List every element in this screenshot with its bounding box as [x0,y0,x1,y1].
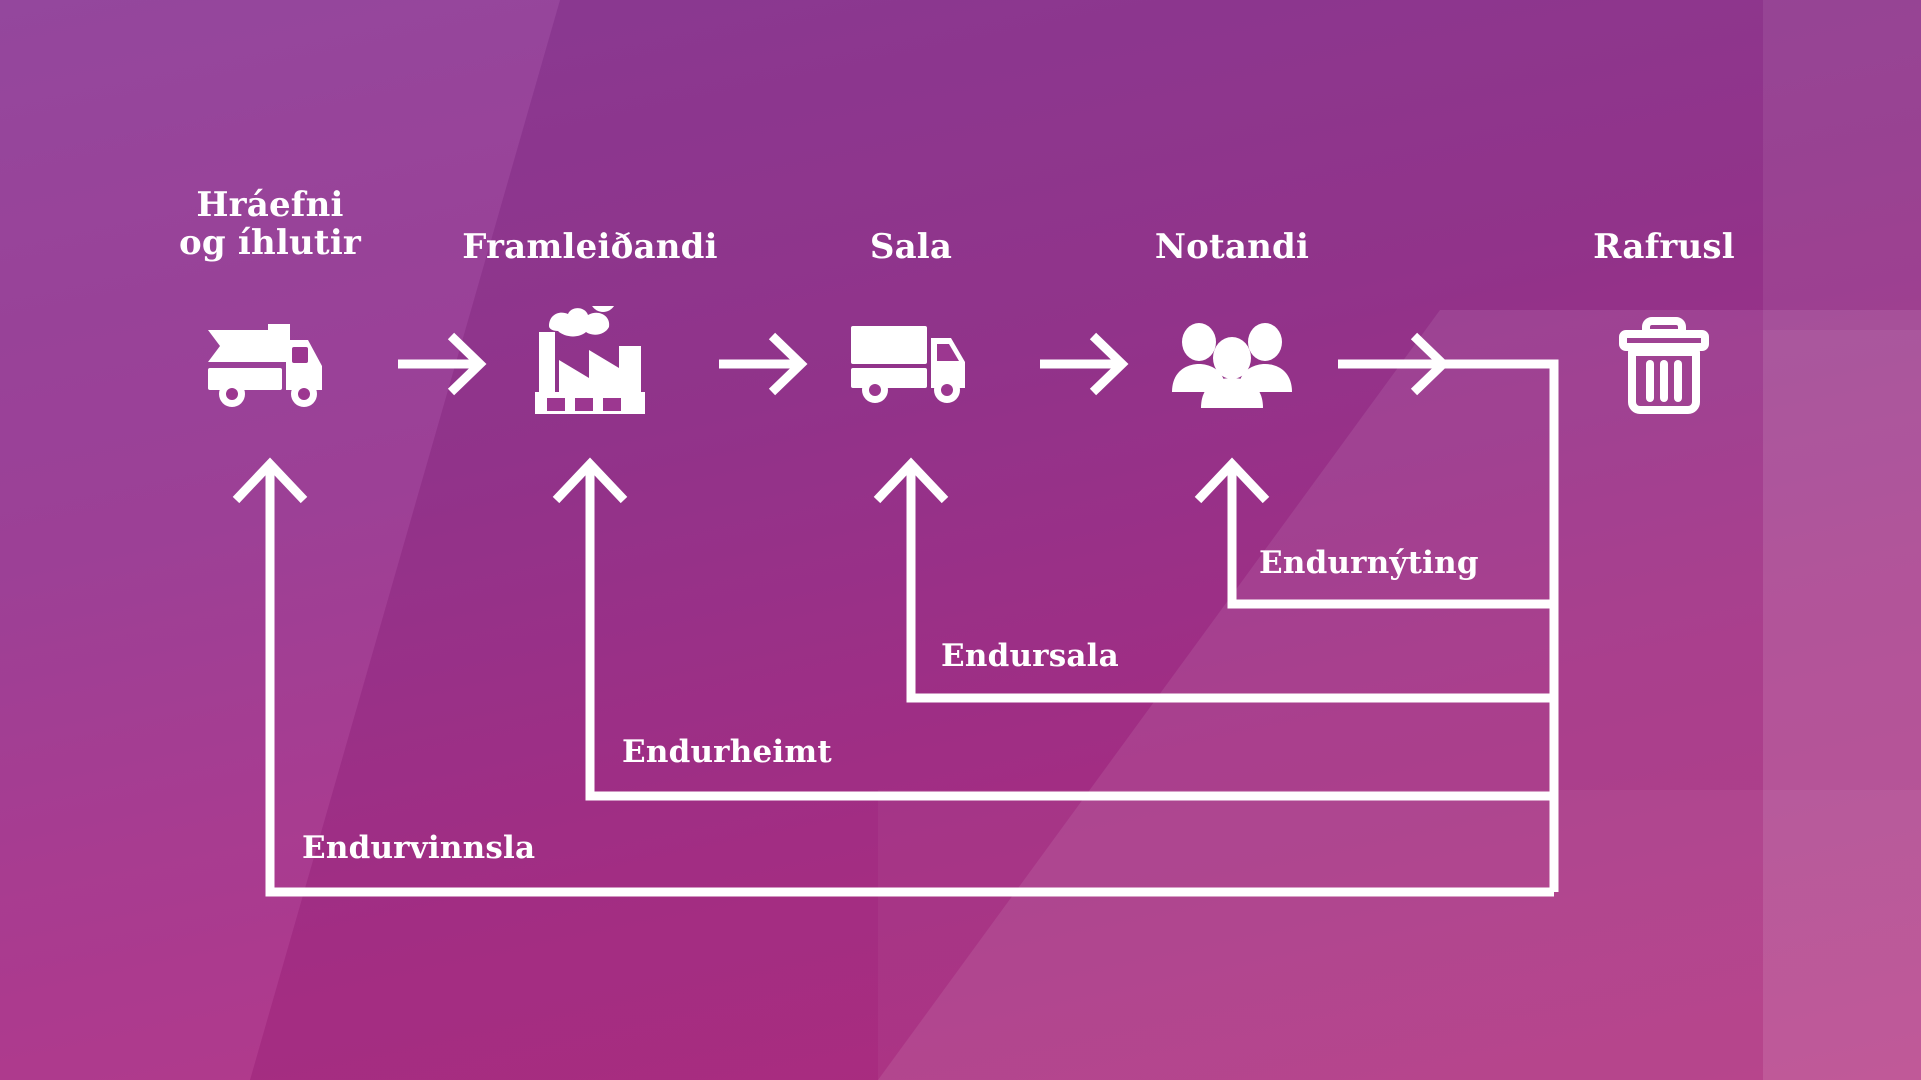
people-group-icon [1169,322,1295,414]
stage-label-raw-materials: Hráefni og íhlutir [179,186,361,262]
flow-label-endursala: Endursala [941,641,1119,672]
connector-layer [0,0,1921,1080]
stage-label-user: Notandi [1155,228,1309,266]
flow-label-endurheimt: Endurheimt [622,737,832,768]
return-loop-reuse [1198,464,1554,604]
trash-bin-icon [1619,310,1709,418]
stage-label-e-waste: Rafrusl [1593,228,1735,266]
delivery-truck-icon [847,318,975,410]
stage-label-sales: Sala [870,228,952,266]
flow-label-endurvinnsla: Endurvinnsla [302,833,535,864]
dump-truck-icon [204,314,336,414]
return-loop-recycle [236,464,1554,892]
stage-label-manufacturer: Framleiðandi [462,228,717,266]
flow-label-endurnyting: Endurnýting [1259,548,1479,579]
return-trunk [1338,364,1554,892]
factory-icon [531,306,649,422]
diagram-canvas: Hráefni og íhlutir Framleiðandi Sala Not… [0,0,1921,1080]
